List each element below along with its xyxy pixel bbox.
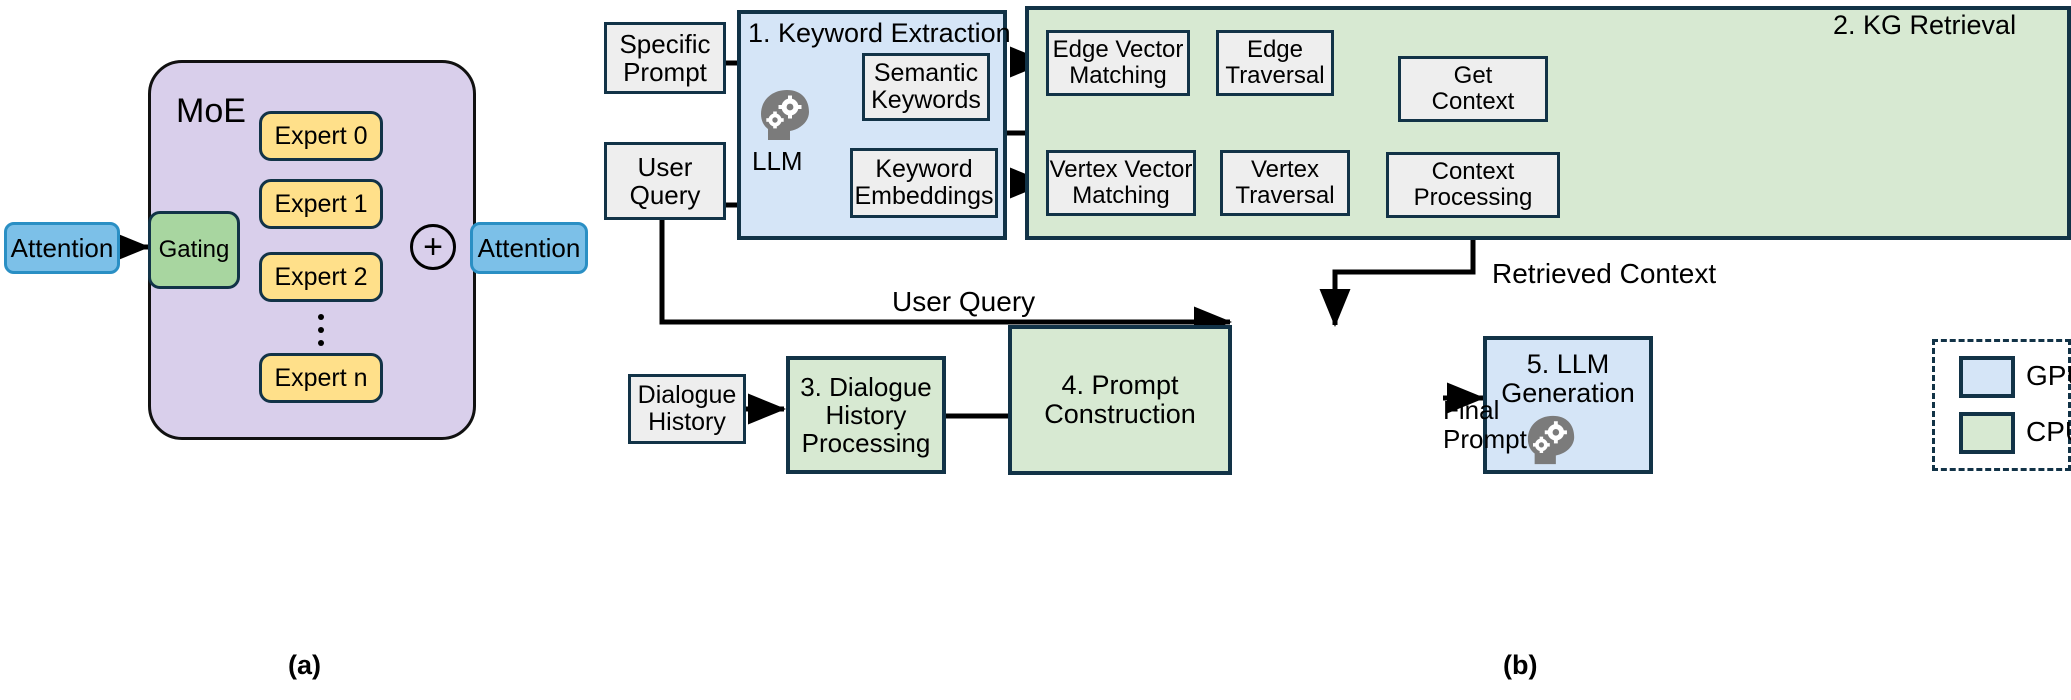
edge-traversal-block: Edge Traversal [1216,30,1334,96]
edge-label-final-prompt: Final Prompt [1443,396,1527,453]
expert-n-block: Expert n [259,353,383,403]
vertex-traversal-block: Vertex Traversal [1220,150,1350,216]
dialogue-history-processing-block: 3. Dialogue History Processing [786,356,946,474]
gating-block: Gating [148,211,240,289]
edge-label-retrieved-context: Retrieved Context [1492,258,1716,290]
vertex-vector-matching-block: Vertex Vector Matching [1046,150,1196,216]
context-processing-block: Context Processing [1386,152,1560,218]
edge-label-user-query: User Query [892,286,1035,318]
stage-2-title: 2. KG Retrieval [1833,10,2016,41]
expert-0-block: Expert 0 [259,111,383,161]
figure-canvas: MoE Attention Gating Expert 0 Expert 1 E… [0,0,2071,700]
user-query-block: User Query [604,142,726,220]
legend-swatch-cpu [1959,412,2015,454]
dialogue-history-block: Dialogue History [628,374,746,444]
expert-ellipsis-icon [318,314,324,346]
specific-prompt-block: Specific Prompt [604,22,726,94]
expert-1-block: Expert 1 [259,179,383,229]
legend-label-gpu: GPU [2026,360,2071,392]
subfigure-a-caption: (a) [288,650,321,681]
edge-vector-matching-block: Edge Vector Matching [1046,30,1190,96]
attention-output-block: Attention [470,222,588,274]
brain-gears-icon-generation [1524,414,1580,468]
get-context-block: Get Context [1398,56,1548,122]
moe-label: MoE [176,92,246,131]
prompt-construction-block: 4. Prompt Construction [1008,325,1232,475]
keyword-embeddings-block: Keyword Embeddings [850,148,998,218]
subfigure-b-caption: (b) [1503,650,1537,681]
stage-1-title: 1. Keyword Extraction [748,18,1011,49]
expert-2-block: Expert 2 [259,252,383,302]
attention-input-block: Attention [4,222,120,274]
legend-swatch-gpu [1959,356,2015,398]
brain-gears-icon [757,88,815,144]
llm-caption: LLM [752,146,803,177]
semantic-keywords-block: Semantic Keywords [862,53,990,121]
legend-label-cpu: CPU [2026,416,2071,448]
sum-node: + [410,224,456,270]
